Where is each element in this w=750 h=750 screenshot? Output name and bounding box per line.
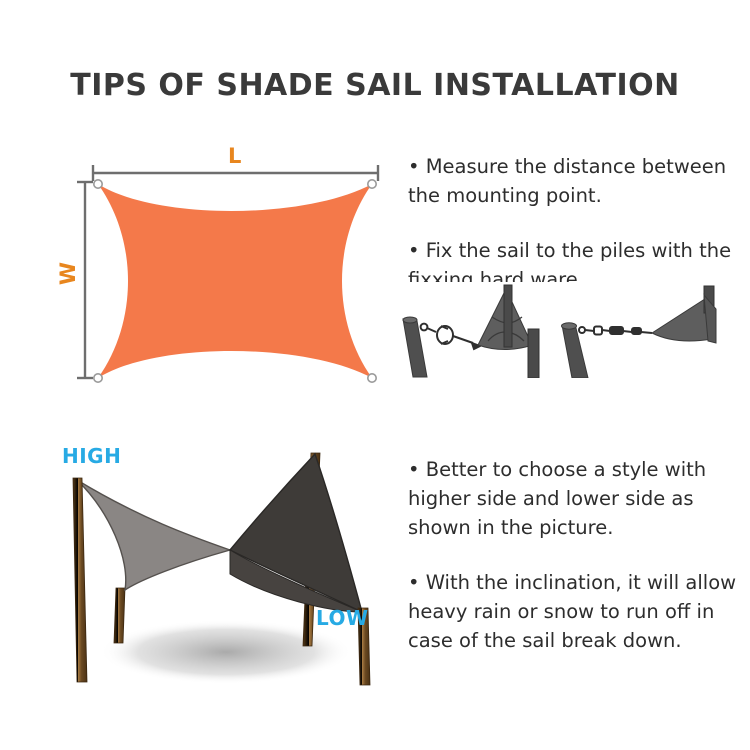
post-pole — [504, 285, 512, 347]
page-title: TIPS OF SHADE SAIL INSTALLATION — [0, 68, 750, 103]
sail-corner-panel — [652, 297, 712, 341]
incline-sail-figure: HIGH LOW — [30, 440, 410, 705]
high-corner-label: HIGH — [62, 446, 121, 466]
tip-line: heavy rain or snow to run off in — [408, 597, 750, 626]
tips-text-bottom: • Better to choose a style with higher s… — [408, 455, 750, 655]
sail-body — [98, 184, 372, 378]
tip-line: fixxing hard ware. — [408, 265, 750, 282]
ground-shadow — [100, 620, 352, 684]
post-short-back-left — [114, 588, 125, 643]
chain-hardware — [579, 327, 652, 335]
hardware-figures — [400, 283, 750, 378]
post-pole — [403, 319, 427, 377]
rect-sail-figure: L W — [60, 140, 400, 400]
hardware-illustrations — [400, 283, 750, 378]
tip-line: • With the inclination, it will allow — [408, 568, 750, 597]
hardware-figure-post-chain — [562, 286, 717, 378]
width-label: W — [58, 262, 79, 285]
infographic-page: TIPS OF SHADE SAIL INSTALLATION — [0, 0, 750, 750]
tip-line: • Measure the distance between — [408, 152, 750, 181]
post-tall-left — [73, 478, 87, 682]
tip-line: the mounting point. — [408, 181, 750, 210]
post-pole — [528, 329, 539, 378]
paragraph-gap — [408, 542, 750, 568]
tip-line: higher side and lower side as — [408, 484, 750, 513]
low-corner-label: LOW — [316, 608, 369, 628]
paragraph-gap — [408, 210, 750, 236]
hardware-figure-post-plate — [403, 285, 539, 378]
turnbuckle-hardware — [421, 324, 480, 349]
tip-line: • Fix the sail to the piles with the — [408, 236, 750, 265]
sail-panel-light — [77, 480, 230, 590]
rect-sail-illustration — [60, 140, 400, 400]
length-label: L — [228, 146, 241, 167]
tip-line: case of the sail break down. — [408, 626, 750, 655]
tip-line: shown in the picture. — [408, 513, 750, 542]
tip-line: • Better to choose a style with — [408, 455, 750, 484]
tips-text-top: • Measure the distance between the mount… — [408, 152, 750, 282]
incline-sail-illustration — [30, 440, 410, 705]
